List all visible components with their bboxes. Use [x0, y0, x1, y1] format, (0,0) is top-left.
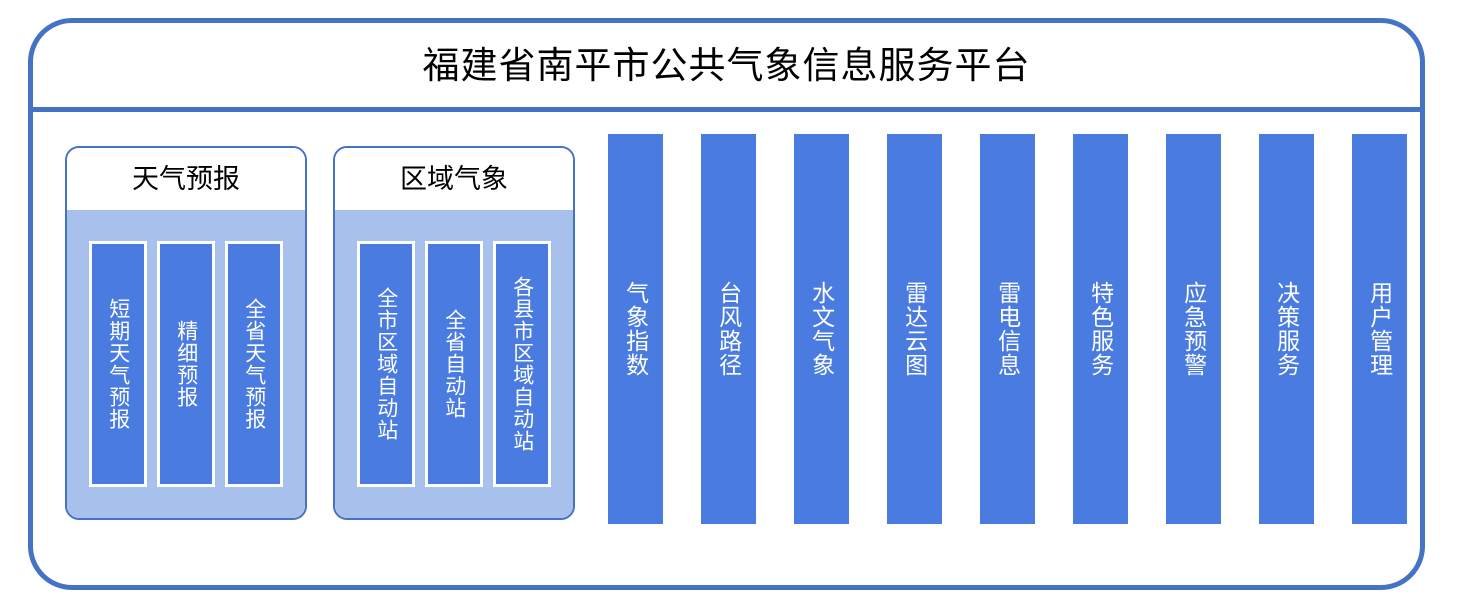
module-bar-3[interactable]: 雷达云图 — [887, 134, 942, 524]
group-item-label: 短期天气预报 — [106, 298, 130, 430]
module-bar-label: 水文气象 — [808, 281, 834, 377]
module-bar-label: 气象指数 — [622, 281, 648, 377]
module-bar-label: 台风路径 — [715, 281, 741, 377]
module-bar-6[interactable]: 应急预警 — [1166, 134, 1221, 524]
module-bar-label: 雷达云图 — [901, 281, 927, 377]
module-area: 天气预报 短期天气预报 精细预报 全省天气预报 区域气象 全市 — [33, 112, 1420, 585]
group-item-bar[interactable]: 短期天气预报 — [89, 241, 147, 487]
group-item-label: 全省天气预报 — [242, 298, 266, 430]
group-box-weather-forecast[interactable]: 天气预报 短期天气预报 精细预报 全省天气预报 — [65, 146, 307, 520]
module-bar-1[interactable]: 台风路径 — [701, 134, 756, 524]
group-box-regional-meteorology[interactable]: 区域气象 全市区域自动站 全省自动站 各县市区域自动站 — [333, 146, 575, 520]
group-item-bar[interactable]: 全省自动站 — [425, 241, 483, 487]
group-title: 区域气象 — [400, 166, 508, 193]
group-title: 天气预报 — [132, 166, 240, 193]
group-item-bar[interactable]: 全省天气预报 — [225, 241, 283, 487]
module-bar-4[interactable]: 雷电信息 — [980, 134, 1035, 524]
group-body: 短期天气预报 精细预报 全省天气预报 — [67, 210, 305, 518]
group-header: 天气预报 — [67, 148, 305, 210]
group-item-bar[interactable]: 全市区域自动站 — [357, 241, 415, 487]
module-bar-2[interactable]: 水文气象 — [794, 134, 849, 524]
module-bar-label: 雷电信息 — [994, 281, 1020, 377]
module-bar-label: 决策服务 — [1273, 281, 1299, 377]
group-item-label: 各县市区域自动站 — [510, 276, 534, 452]
group-item-label: 精细预报 — [174, 320, 198, 408]
group-item-bar[interactable]: 各县市区域自动站 — [493, 241, 551, 487]
module-bar-7[interactable]: 决策服务 — [1259, 134, 1314, 524]
group-body: 全市区域自动站 全省自动站 各县市区域自动站 — [335, 210, 573, 518]
group-item-label: 全市区域自动站 — [374, 287, 398, 441]
group-item-bar[interactable]: 精细预报 — [157, 241, 215, 487]
module-bar-0[interactable]: 气象指数 — [608, 134, 663, 524]
module-bar-label: 特色服务 — [1087, 281, 1113, 377]
module-bar-label: 用户管理 — [1366, 281, 1392, 377]
platform-title-bar: 福建省南平市公共气象信息服务平台 — [33, 23, 1420, 112]
page-title: 福建省南平市公共气象信息服务平台 — [423, 47, 1031, 84]
platform-frame: 福建省南平市公共气象信息服务平台 天气预报 短期天气预报 精细预报 全省天气预报 — [28, 18, 1425, 590]
group-header: 区域气象 — [335, 148, 573, 210]
module-bar-8[interactable]: 用户管理 — [1352, 134, 1407, 524]
group-item-label: 全省自动站 — [442, 309, 466, 419]
module-bar-label: 应急预警 — [1180, 281, 1206, 377]
module-bar-5[interactable]: 特色服务 — [1073, 134, 1128, 524]
